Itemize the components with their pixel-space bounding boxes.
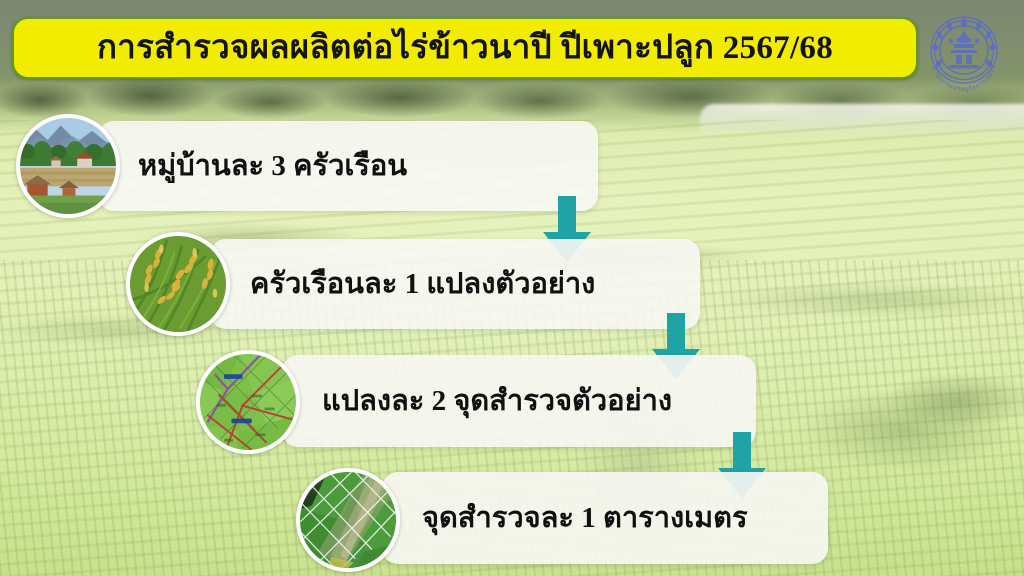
step-thumbnail-aerial-field-photo: [296, 468, 400, 572]
step-card-2[interactable]: ครัวเรือนละ 1 แปลงตัวอย่าง: [210, 239, 700, 329]
step-card-1[interactable]: หมู่บ้านละ 3 ครัวเรือน: [98, 121, 598, 211]
page-title: การสำรวจผลผลิตต่อไร่ข้าวนาปี ปีเพาะปลูก …: [97, 32, 833, 65]
slide-canvas: การสำรวจผลผลิตต่อไร่ข้าวนาปี ปีเพาะปลูก …: [0, 0, 1024, 576]
title-banner: การสำรวจผลผลิตต่อไร่ข้าวนาปี ปีเพาะปลูก …: [12, 17, 918, 79]
step-thumbnail-village-photo: [16, 114, 120, 218]
step-label-1: หมู่บ้านละ 3 ครัวเรือน: [138, 152, 407, 181]
step-label-4: จุดสำรวจละ 1 ตารางเมตร: [422, 504, 748, 533]
step-thumbnail-rice-ears-photo: [126, 232, 230, 336]
step-label-3: แปลงละ 2 จุดสำรวจตัวอย่าง: [322, 387, 672, 416]
agency-seal: สำนักงานเศรษฐกิจการเกษตร: [918, 6, 1010, 98]
step-card-4[interactable]: จุดสำรวจละ 1 ตารางเมตร: [382, 472, 828, 564]
step-card-3[interactable]: แปลงละ 2 จุดสำรวจตัวอย่าง: [282, 355, 756, 447]
step-thumbnail-parcel-map-photo: [196, 350, 300, 454]
step-label-2: ครัวเรือนละ 1 แปลงตัวอย่าง: [250, 270, 595, 299]
